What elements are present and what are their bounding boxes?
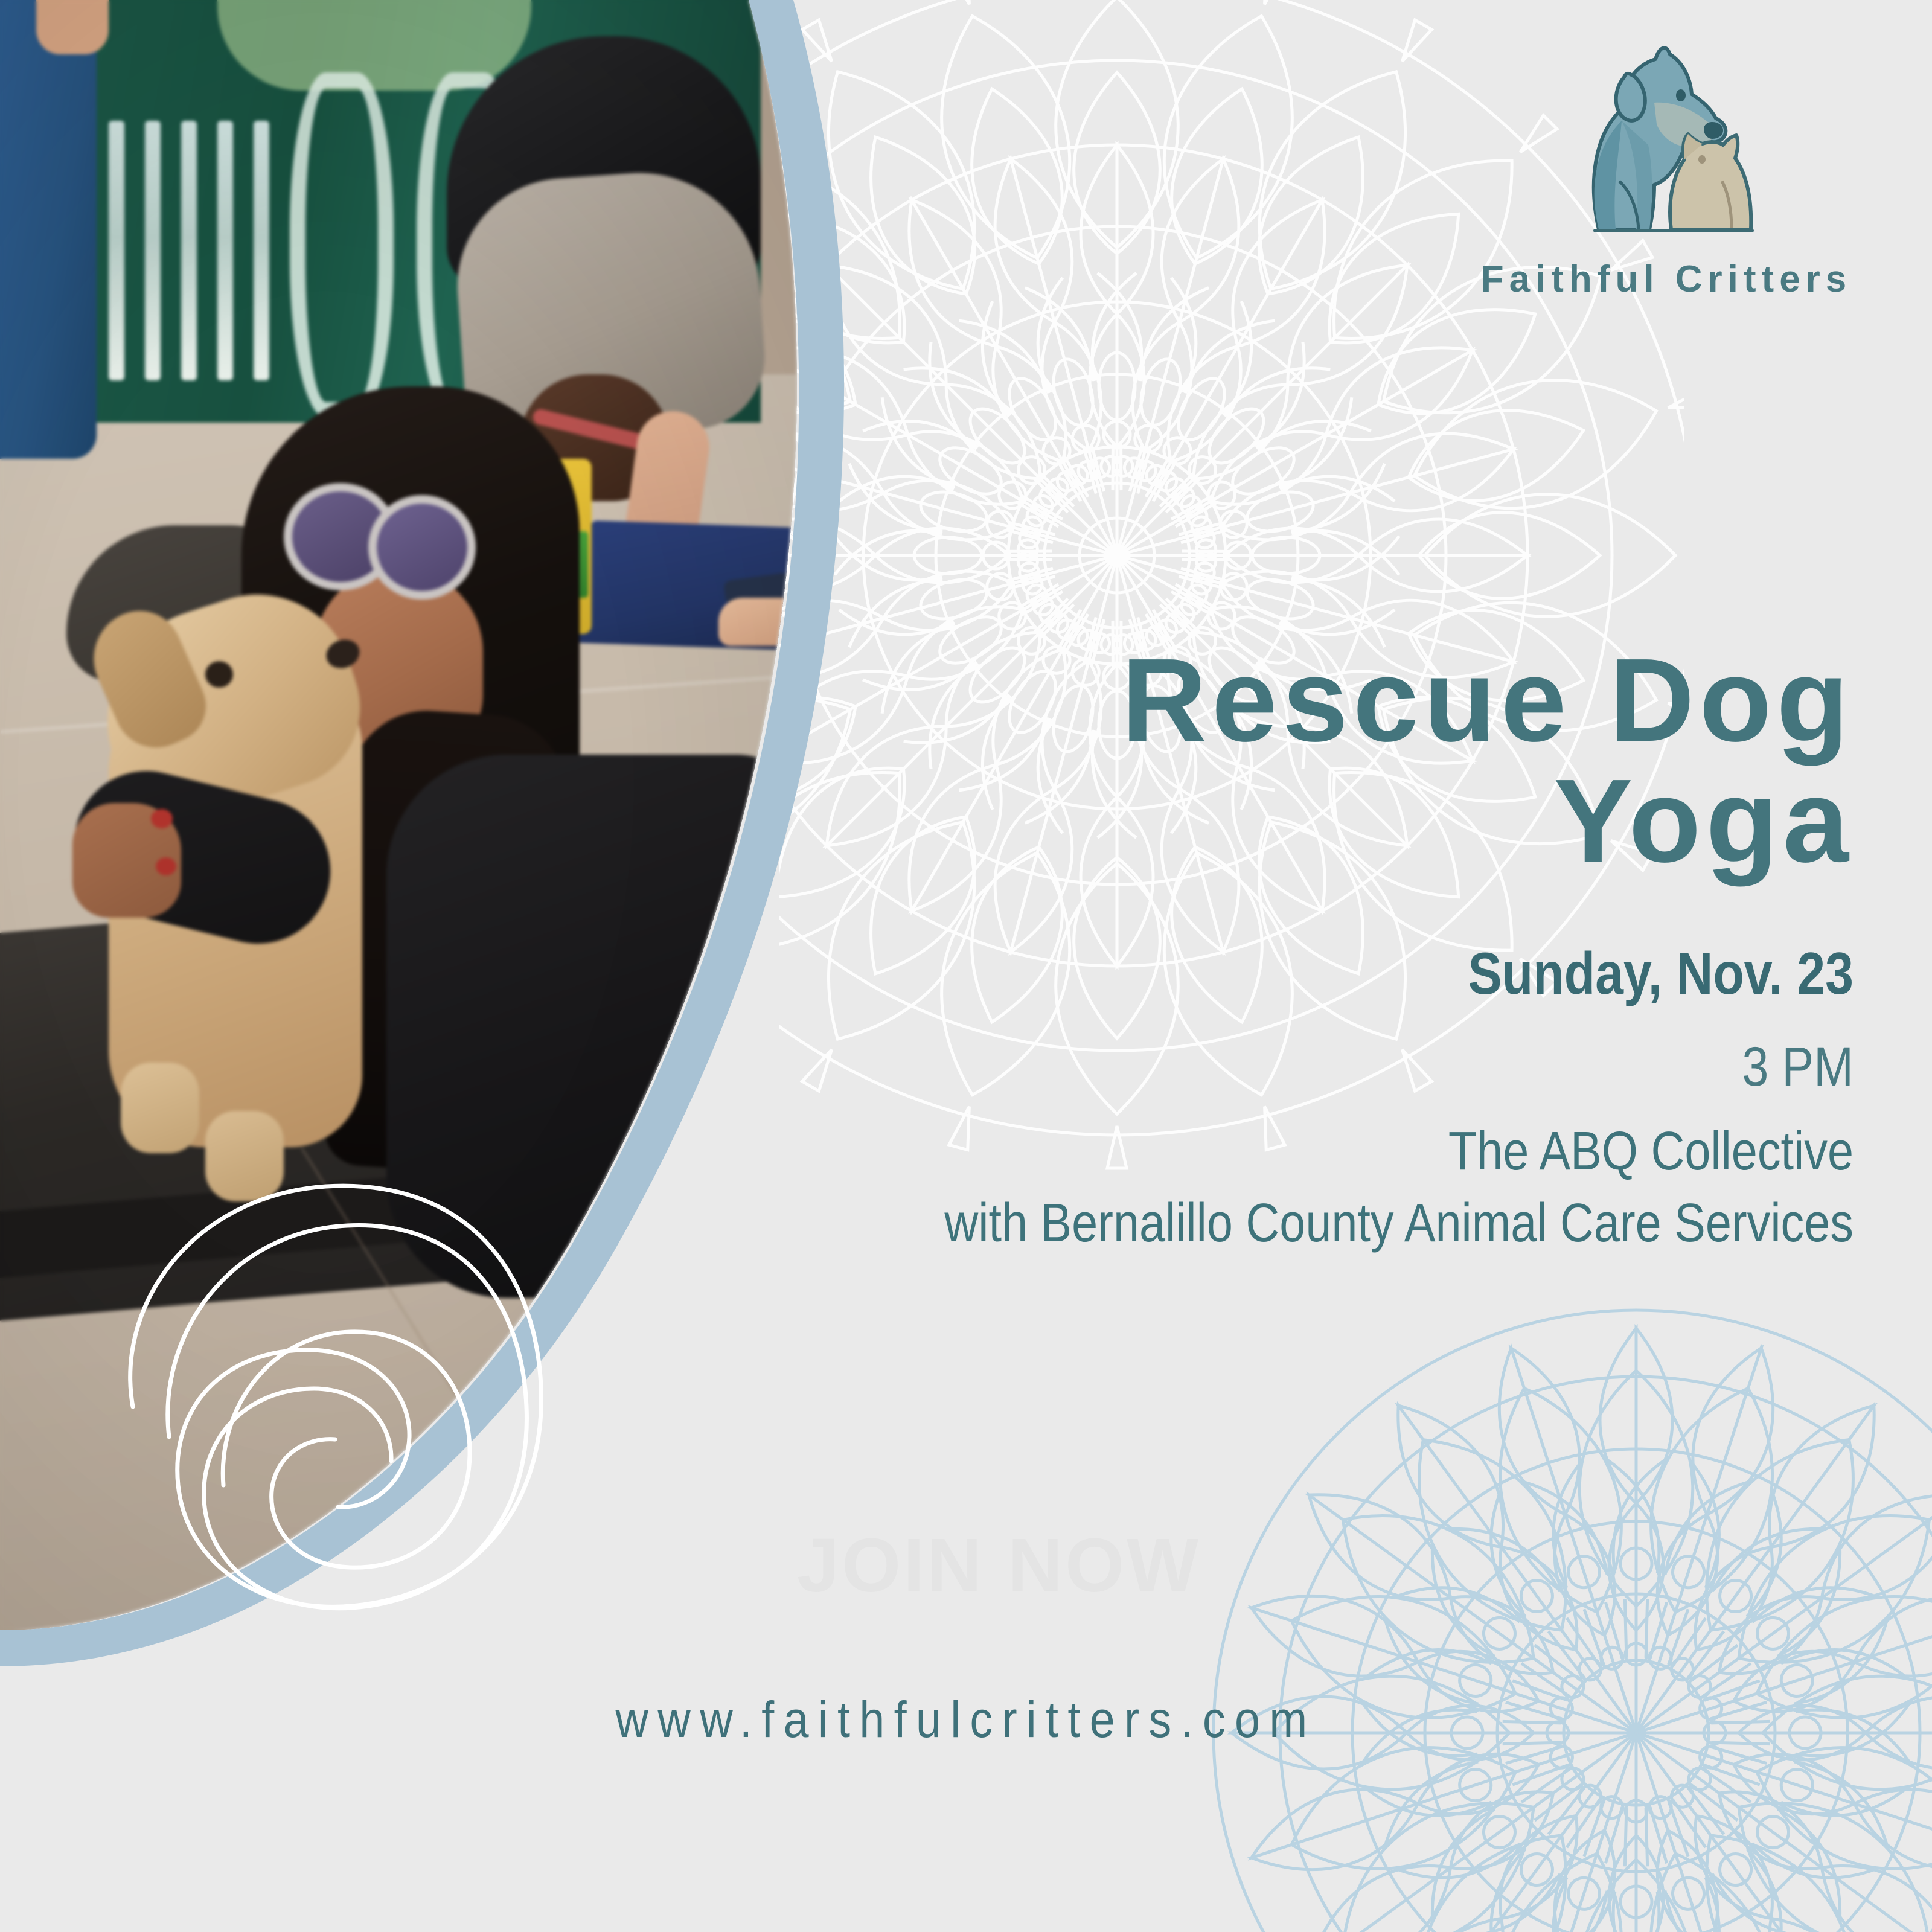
page-title: Rescue Dog Yoga xyxy=(718,640,1854,881)
event-partner: with Bernalillo County Animal Care Servi… xyxy=(877,1192,1854,1255)
event-time: 3 PM xyxy=(877,1035,1854,1099)
title-line-1: Rescue Dog xyxy=(1121,634,1854,766)
event-venue: The ABQ Collective xyxy=(877,1121,1854,1183)
dog-and-cat-icon xyxy=(1564,30,1769,241)
brand-name: Faithful Critters xyxy=(1473,258,1860,301)
website-url[interactable]: www.faithfulcritters.com xyxy=(97,1690,1835,1749)
event-poster: Faithful Critters Rescue Dog Yoga Sunday… xyxy=(0,0,1932,1932)
join-now-watermark: JOIN NOW xyxy=(797,1521,1201,1609)
brand-logo: Faithful Critters xyxy=(1473,30,1860,301)
event-date: Sunday, Nov. 23 xyxy=(877,939,1854,1008)
title-line-2: Yoga xyxy=(1553,755,1854,887)
event-details: Rescue Dog Yoga Sunday, Nov. 23 3 PM The… xyxy=(718,640,1854,1255)
